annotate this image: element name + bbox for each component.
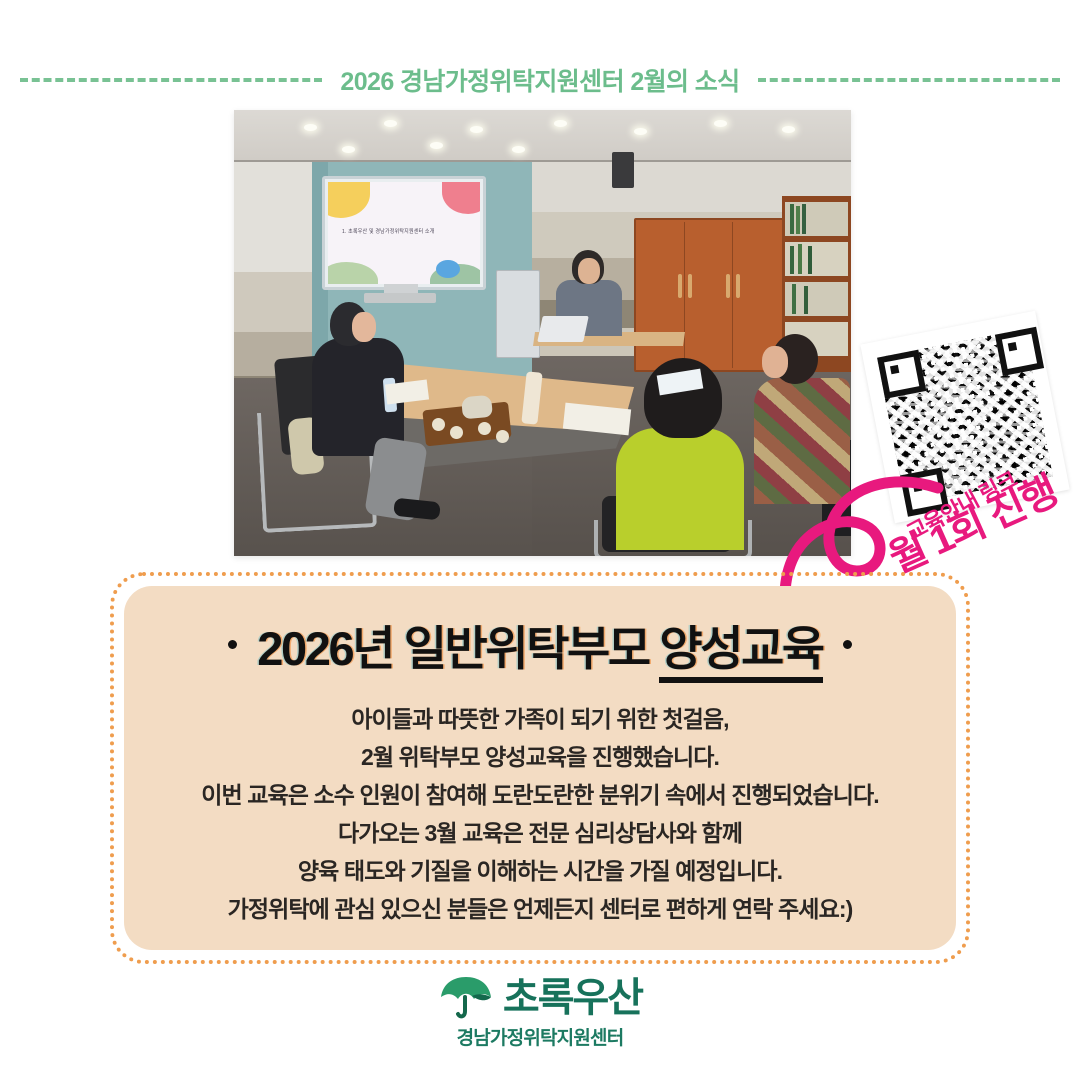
ceiling-light — [512, 146, 525, 153]
participant-center-body — [616, 428, 744, 550]
book — [808, 246, 812, 274]
book — [796, 206, 800, 234]
training-session-photo: 1. 초록우산 및 경남가정위탁지원센터 소개 — [234, 110, 851, 556]
cabinet-handle — [736, 274, 740, 298]
book — [804, 286, 808, 314]
qr-finder-top-right — [995, 327, 1044, 376]
cabinet-handle — [726, 274, 730, 298]
book — [790, 204, 794, 234]
ceiling-light — [304, 124, 317, 131]
body-text-block: 아이들과 따뜻한 가족이 되기 위한 첫걸음, 2월 위탁부모 양성교육을 진행… — [124, 700, 956, 928]
book — [798, 244, 802, 274]
book — [792, 284, 796, 314]
body-line: 양육 태도와 기질을 이해하는 시간을 가질 예정입니다. — [124, 852, 956, 890]
logo-row: 초록우산 — [438, 975, 642, 1021]
ceiling — [234, 110, 851, 164]
brand-name: 초록우산 — [503, 977, 642, 1019]
participant-right-face — [762, 346, 788, 378]
teacup — [478, 422, 491, 435]
teacup — [450, 426, 463, 439]
cabinet-handle — [678, 274, 682, 298]
ceiling-light — [634, 128, 647, 135]
body-line: 다가오는 3월 교육은 전문 심리상담사와 함께 — [124, 814, 956, 852]
slide-title-text: 1. 초록우산 및 경남가정위탁지원센터 소개 — [342, 228, 470, 236]
header-bar: 2026 경남가정위탁지원센터 2월의 소식 — [0, 58, 1080, 102]
title-bullet-left — [228, 640, 237, 649]
page-title: 2026년 일반위탁부모 양성교육 — [257, 610, 823, 679]
center-name: 경남가정위탁지원센터 — [457, 1023, 624, 1050]
slide-blob-pink — [442, 182, 480, 214]
page-title-plain: 2026년 일반위탁부모 — [257, 622, 659, 675]
screen-base — [364, 293, 436, 303]
ceiling-light — [470, 126, 483, 133]
slide-blob-green — [328, 262, 378, 284]
laptop — [537, 316, 589, 342]
ceiling-light — [342, 146, 355, 153]
body-line: 아이들과 따뜻한 가족이 되기 위한 첫걸음, — [124, 700, 956, 738]
presenter-face — [578, 258, 600, 284]
body-line: 2월 위탁부모 양성교육을 진행했습니다. — [124, 738, 956, 776]
teacup — [432, 418, 445, 431]
participant-right-body — [754, 378, 850, 504]
book — [790, 246, 794, 274]
footer-logo-block: 초록우산 경남가정위탁지원센터 — [0, 975, 1080, 1050]
body-line: 이번 교육은 소수 인원이 참여해 도란도란한 분위기 속에서 진행되었습니다. — [124, 776, 956, 814]
header-dash-left — [20, 78, 322, 82]
ceiling-light — [714, 120, 727, 127]
shelf-row — [785, 202, 848, 236]
participant-left-face — [352, 312, 376, 342]
qr-finder-top-left — [877, 350, 926, 399]
book — [802, 204, 806, 234]
cabinet-handle — [688, 274, 692, 298]
main-title-row: 2026년 일반위탁부모 양성교육 — [124, 608, 956, 680]
screen-surface: 1. 초록우산 및 경남가정위탁지원센터 소개 — [328, 182, 480, 284]
slide-blob-yellow — [328, 182, 370, 218]
cabinet-divider — [732, 222, 733, 368]
shelf-row — [785, 242, 848, 276]
wooden-cabinet — [634, 218, 786, 372]
ceiling-light — [782, 126, 795, 133]
slide-blob-blue — [436, 260, 460, 278]
poster-card: 2026 경남가정위탁지원센터 2월의 소식 — [0, 0, 1080, 1080]
green-umbrella-icon — [438, 975, 494, 1021]
body-line: 가정위탁에 관심 있으신 분들은 언제든지 센터로 편하게 연락 주세요:) — [124, 890, 956, 928]
wall-speaker — [612, 152, 634, 188]
header-title: 2026 경남가정위탁지원센터 2월의 소식 — [340, 62, 739, 98]
teapot — [461, 395, 493, 420]
page-title-underlined: 양성교육 — [659, 622, 822, 683]
cabinet-divider — [684, 222, 685, 368]
ceiling-light — [430, 142, 443, 149]
participant-center-head — [644, 358, 722, 438]
ceiling-light — [554, 120, 567, 127]
ceiling-light — [384, 120, 397, 127]
teacup — [496, 430, 509, 443]
title-bullet-right — [843, 640, 852, 649]
header-dash-right — [758, 78, 1060, 82]
presentation-screen: 1. 초록우산 및 경남가정위탁지원센터 소개 — [322, 176, 486, 290]
